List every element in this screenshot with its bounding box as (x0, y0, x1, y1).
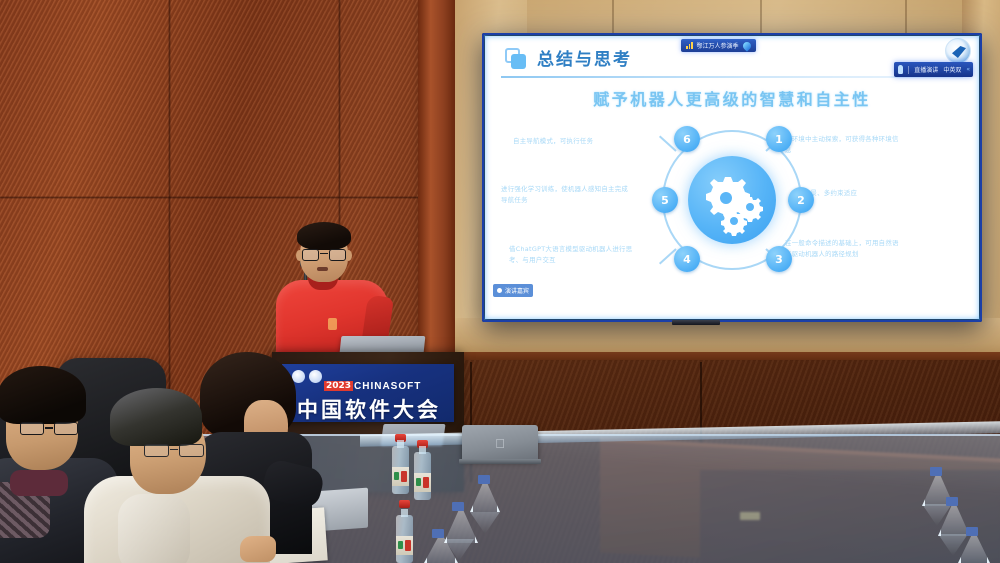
diagram-node-6[interactable]: 6 (674, 126, 700, 152)
water-bottle[interactable] (392, 434, 409, 494)
panelist-center (92, 388, 262, 563)
water-bottle[interactable] (414, 440, 431, 500)
name-card-holder[interactable] (958, 530, 990, 563)
rounded-squares-icon (505, 48, 527, 70)
right-badge-secondary: 中英双 (943, 65, 961, 74)
wall-seam (0, 196, 470, 199)
microphone-icon (898, 65, 903, 74)
record-dot-icon (497, 288, 502, 293)
hand (240, 536, 276, 562)
right-stream-badge[interactable]: 直播演讲 中英双 « (894, 62, 973, 77)
conference-room-scene: 总结与思考 赋予机器人更高级的智慧和自主性 自主导航模式，可执行任务 进行强化学… (0, 0, 1000, 563)
diagram-node-4[interactable]: 4 (674, 246, 700, 272)
glasses-icon (144, 444, 204, 457)
glasses-icon (301, 249, 347, 261)
glasses-icon (20, 422, 78, 435)
diagram-note-6: 自主导航模式，可执行任务 (513, 136, 645, 147)
diagram-node-1[interactable]: 1 (766, 126, 792, 152)
diagram-node-3[interactable]: 3 (766, 246, 792, 272)
diagram-note-4: 借ChatGPT大语言模型驱动机器人进行思考、与用户交互 (509, 244, 641, 265)
institute-logo-icon (945, 38, 971, 64)
status-badge: 演讲嘉宾 (493, 284, 533, 297)
name-card-holder[interactable] (424, 532, 458, 563)
flame-icon (741, 40, 752, 51)
gears-icon (688, 156, 776, 244)
diagram-node-5[interactable]: 5 (652, 187, 678, 213)
top-stream-banner[interactable]: 鄂江万人参演季 (681, 39, 756, 52)
diagram-note-5: 进行强化学习训练，使机器人感知自主完成导航任务 (501, 184, 633, 205)
panel-audience (0, 330, 380, 563)
signal-bars-icon (686, 42, 693, 49)
macbook-laptop[interactable]:  (462, 425, 538, 467)
slide-header-title: 总结与思考 (537, 45, 632, 70)
slide-screen: 总结与思考 赋予机器人更高级的智慧和自主性 自主导航模式，可执行任务 进行强化学… (485, 36, 979, 319)
presenter-badge (328, 318, 337, 330)
top-banner-label: 鄂江万人参演季 (697, 41, 739, 50)
apple-logo-icon:  (494, 437, 506, 451)
slide-main-title: 赋予机器人更高级的智慧和自主性 (485, 86, 979, 110)
double-chevron-icon[interactable]: « (966, 66, 969, 73)
right-badge-label: 直播演讲 (914, 65, 938, 74)
wall-mounted-display[interactable]: 总结与思考 赋予机器人更高级的智慧和自主性 自主导航模式，可执行任务 进行强化学… (482, 33, 982, 322)
circular-process-diagram: 1 2 3 4 5 6 (648, 116, 816, 284)
status-badge-label: 演讲嘉宾 (505, 286, 529, 295)
divider (908, 66, 909, 74)
diagram-node-2[interactable]: 2 (788, 187, 814, 213)
water-bottle[interactable] (396, 500, 417, 563)
display-mount (672, 320, 720, 325)
